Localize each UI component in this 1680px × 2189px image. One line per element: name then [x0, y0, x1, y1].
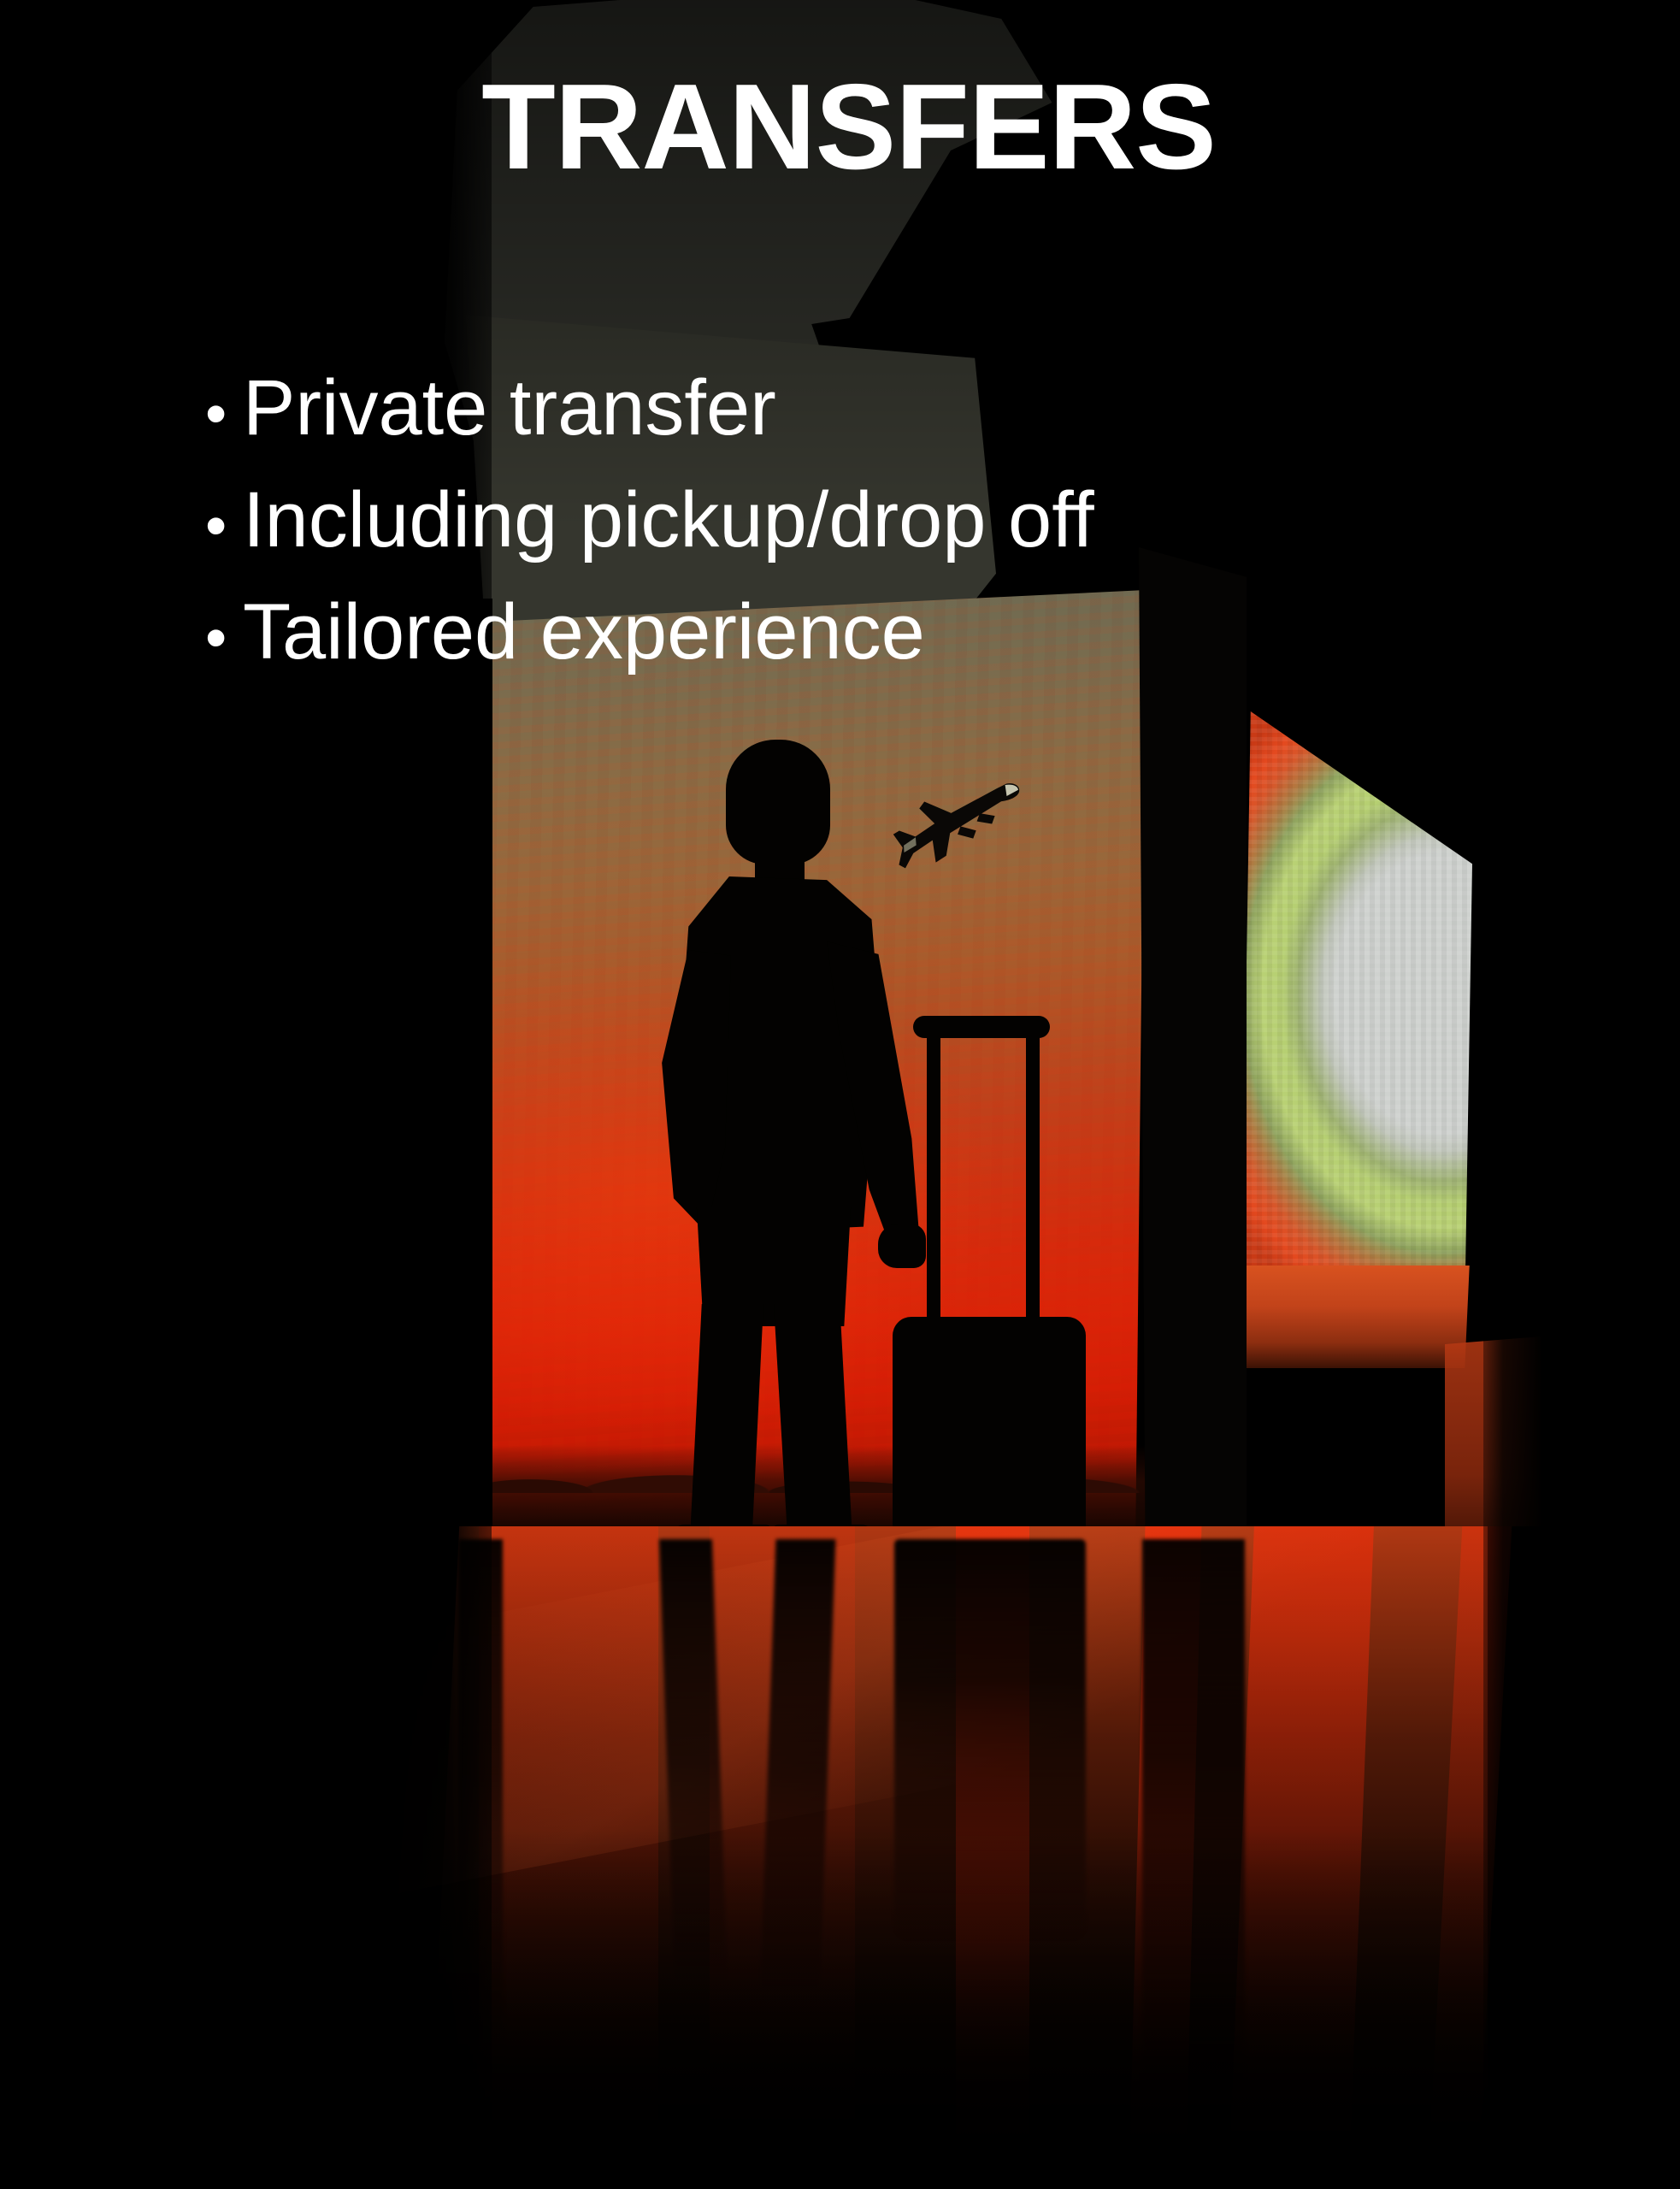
list-item: • Tailored experience [205, 579, 1488, 691]
presentation-slide: TRANSFERS • Private transfer • Including… [0, 0, 1680, 2189]
bullet-text: Private transfer [243, 355, 776, 461]
bullet-text: Tailored experience [243, 579, 925, 685]
bullet-marker-icon: • [205, 585, 243, 691]
bullet-marker-icon: • [205, 473, 243, 579]
slide-text-layer: TRANSFERS • Private transfer • Including… [0, 0, 1680, 2189]
bullet-marker-icon: • [205, 361, 243, 467]
bullet-text: Including pickup/drop off [243, 467, 1094, 573]
slide-title: TRANSFERS [0, 67, 1680, 188]
list-item: • Including pickup/drop off [205, 467, 1488, 579]
bullet-list: • Private transfer • Including pickup/dr… [205, 355, 1488, 691]
list-item: • Private transfer [205, 355, 1488, 467]
